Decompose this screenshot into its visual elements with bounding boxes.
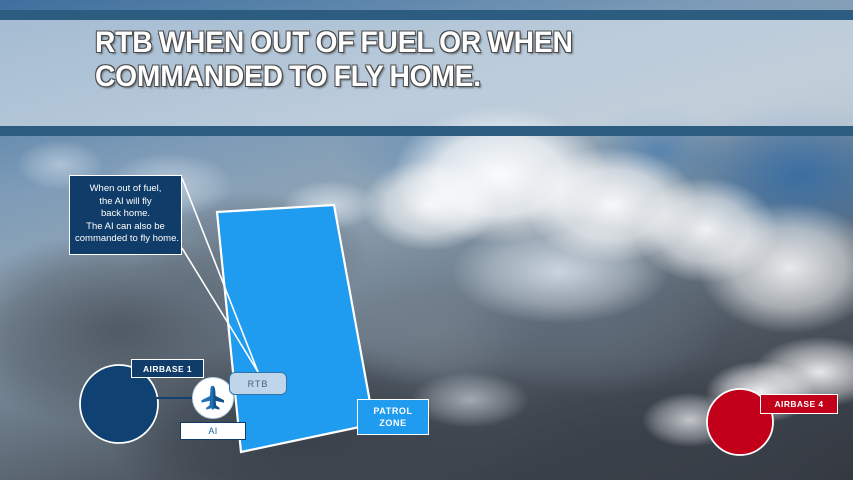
callout-note-line-2: the AI will fly bbox=[75, 196, 176, 209]
aircraft-marker[interactable] bbox=[192, 377, 234, 419]
airbase1-label[interactable]: AIRBASE 1 bbox=[131, 359, 204, 378]
airbase1-label-text: AIRBASE 1 bbox=[143, 364, 192, 374]
fighter-jet-icon bbox=[198, 381, 228, 416]
callout-note-line-5: commanded to fly home. bbox=[75, 233, 176, 246]
rtb-label[interactable]: RTB bbox=[229, 372, 287, 395]
patrol-zone-label-line-1: PATROL bbox=[373, 405, 412, 417]
ai-label[interactable]: AI bbox=[180, 422, 246, 440]
airbase4-label-text: AIRBASE 4 bbox=[775, 399, 824, 409]
ai-label-text: AI bbox=[208, 426, 217, 436]
callout-note: When out of fuel, the AI will fly back h… bbox=[69, 175, 182, 255]
slide-canvas: RTB WHEN OUT OF FUEL OR WHEN COMMANDED T… bbox=[0, 0, 853, 480]
patrol-zone-label-line-2: ZONE bbox=[379, 417, 406, 429]
rtb-label-text: RTB bbox=[248, 379, 269, 389]
patrol-zone-label[interactable]: PATROL ZONE bbox=[357, 399, 429, 435]
callout-note-line-4: The AI can also be bbox=[75, 221, 176, 234]
airbase4-label[interactable]: AIRBASE 4 bbox=[760, 394, 838, 414]
callout-note-line-3: back home. bbox=[75, 208, 176, 221]
callout-note-line-1: When out of fuel, bbox=[75, 183, 176, 196]
